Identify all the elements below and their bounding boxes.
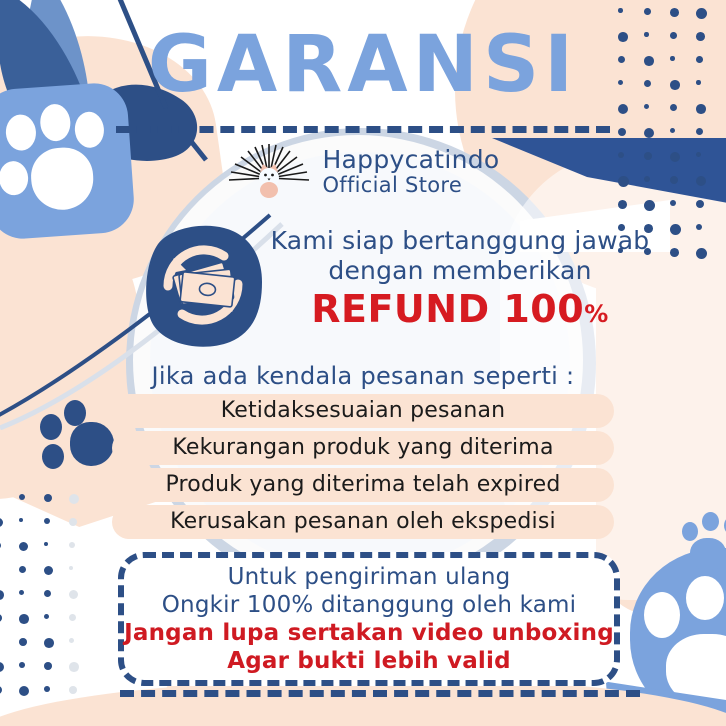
brand-block: Happycatindo Official Store: [0, 142, 726, 202]
divider-top: [116, 126, 610, 133]
refund-headline: REFUND 100%: [250, 290, 670, 330]
refund-money-arrows-icon: [142, 222, 266, 348]
refund-percent: %: [584, 300, 609, 328]
brand-name: Happycatindo: [322, 146, 499, 174]
note-line-1: Untuk pengiriman ulang: [228, 563, 511, 591]
refund-text: REFUND 100: [311, 287, 584, 331]
message-line-1: Kami siap bertanggung jawab: [250, 226, 670, 256]
list-item: Kerusakan pesanan oleh ekspedisi: [112, 505, 614, 539]
list-item-label: Kekurangan produk yang diterima: [172, 435, 553, 460]
issues-subheading: Jika ada kendala pesanan seperti :: [0, 362, 726, 390]
note-line-2: Ongkir 100% ditanggung oleh kami: [162, 591, 576, 619]
list-item: Kekurangan produk yang diterima: [112, 431, 614, 465]
issues-list: Ketidaksesuaian pesanan Kekurangan produ…: [112, 394, 614, 539]
list-item-label: Ketidaksesuaian pesanan: [221, 398, 506, 423]
page-title: GARANSI: [0, 26, 726, 104]
message-line-2: dengan memberikan: [250, 256, 670, 286]
list-item-label: Kerusakan pesanan oleh ekspedisi: [170, 509, 556, 534]
list-item-label: Produk yang diterima telah expired: [165, 472, 560, 497]
brand-subtitle: Official Store: [322, 174, 499, 198]
cat-sunburst-logo-icon: [226, 142, 312, 202]
note-line-4: Agar bukti lebih valid: [227, 647, 511, 675]
refund-message: Kami siap bertanggung jawab dengan membe…: [250, 226, 670, 329]
guarantee-poster: GARANSI: [0, 0, 726, 726]
divider-bottom: [120, 690, 640, 697]
shipping-note-box: Untuk pengiriman ulang Ongkir 100% ditan…: [118, 552, 620, 686]
list-item: Ketidaksesuaian pesanan: [112, 394, 614, 428]
list-item: Produk yang diterima telah expired: [112, 468, 614, 502]
note-line-3: Jangan lupa sertakan video unboxing: [124, 619, 614, 647]
